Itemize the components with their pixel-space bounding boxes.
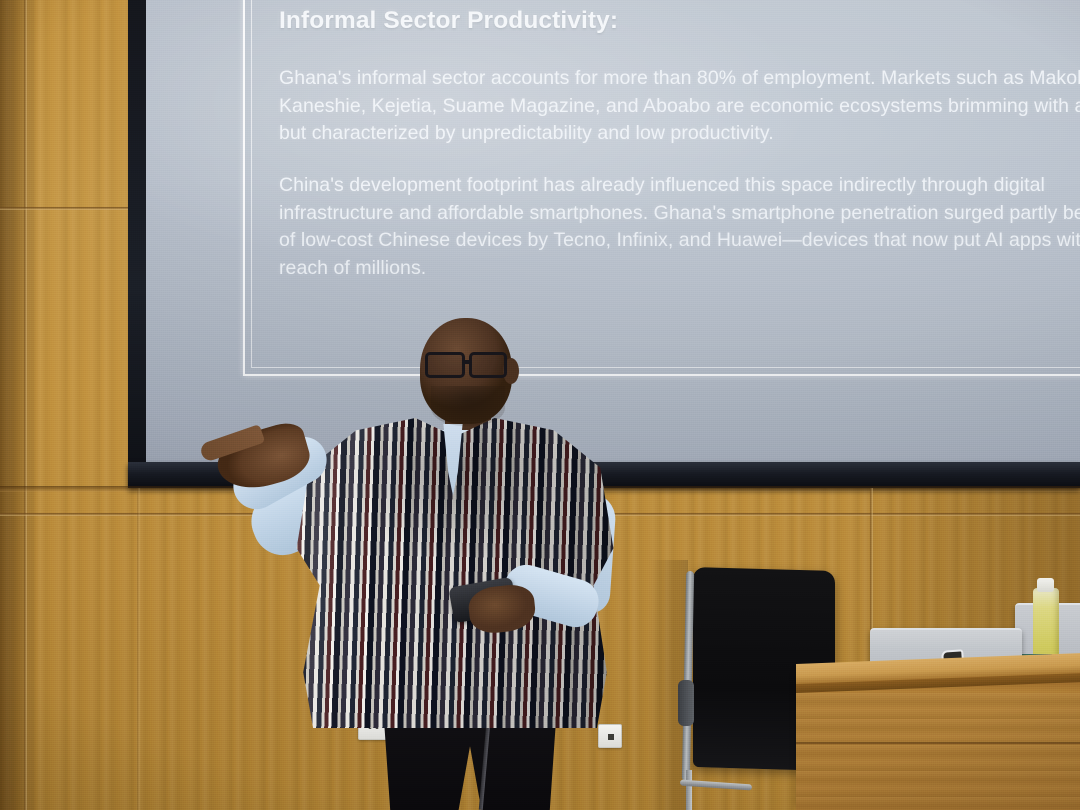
slide-paragraph-1: Ghana's informal sector accounts for mor… — [279, 65, 1080, 148]
speaker-beard — [431, 386, 505, 426]
bottle-cap — [1037, 578, 1054, 592]
wall-panel-seam-vertical — [24, 0, 27, 810]
podium-desk-grain — [796, 693, 1080, 810]
eyeglasses-bridge-icon — [463, 360, 471, 364]
eyeglasses-right-lens-icon — [469, 352, 507, 378]
wall-shadow-left — [0, 0, 40, 810]
slide-title: Informal Sector Productivity: — [279, 8, 1080, 35]
chair-armrest — [678, 680, 694, 726]
speaker-figure — [255, 300, 675, 810]
slide-paragraph-2: China's development footprint has alread… — [279, 172, 1080, 283]
chair-leg — [686, 770, 692, 810]
eyeglasses-left-lens-icon — [425, 352, 465, 378]
podium-desk-panel-line — [796, 742, 1080, 744]
wall-panel-seam-vertical-left — [137, 488, 140, 810]
lecture-room-photo: Informal Sector Productivity: Ghana's in… — [0, 0, 1080, 810]
slide-content: Informal Sector Productivity: Ghana's in… — [279, 8, 1080, 283]
